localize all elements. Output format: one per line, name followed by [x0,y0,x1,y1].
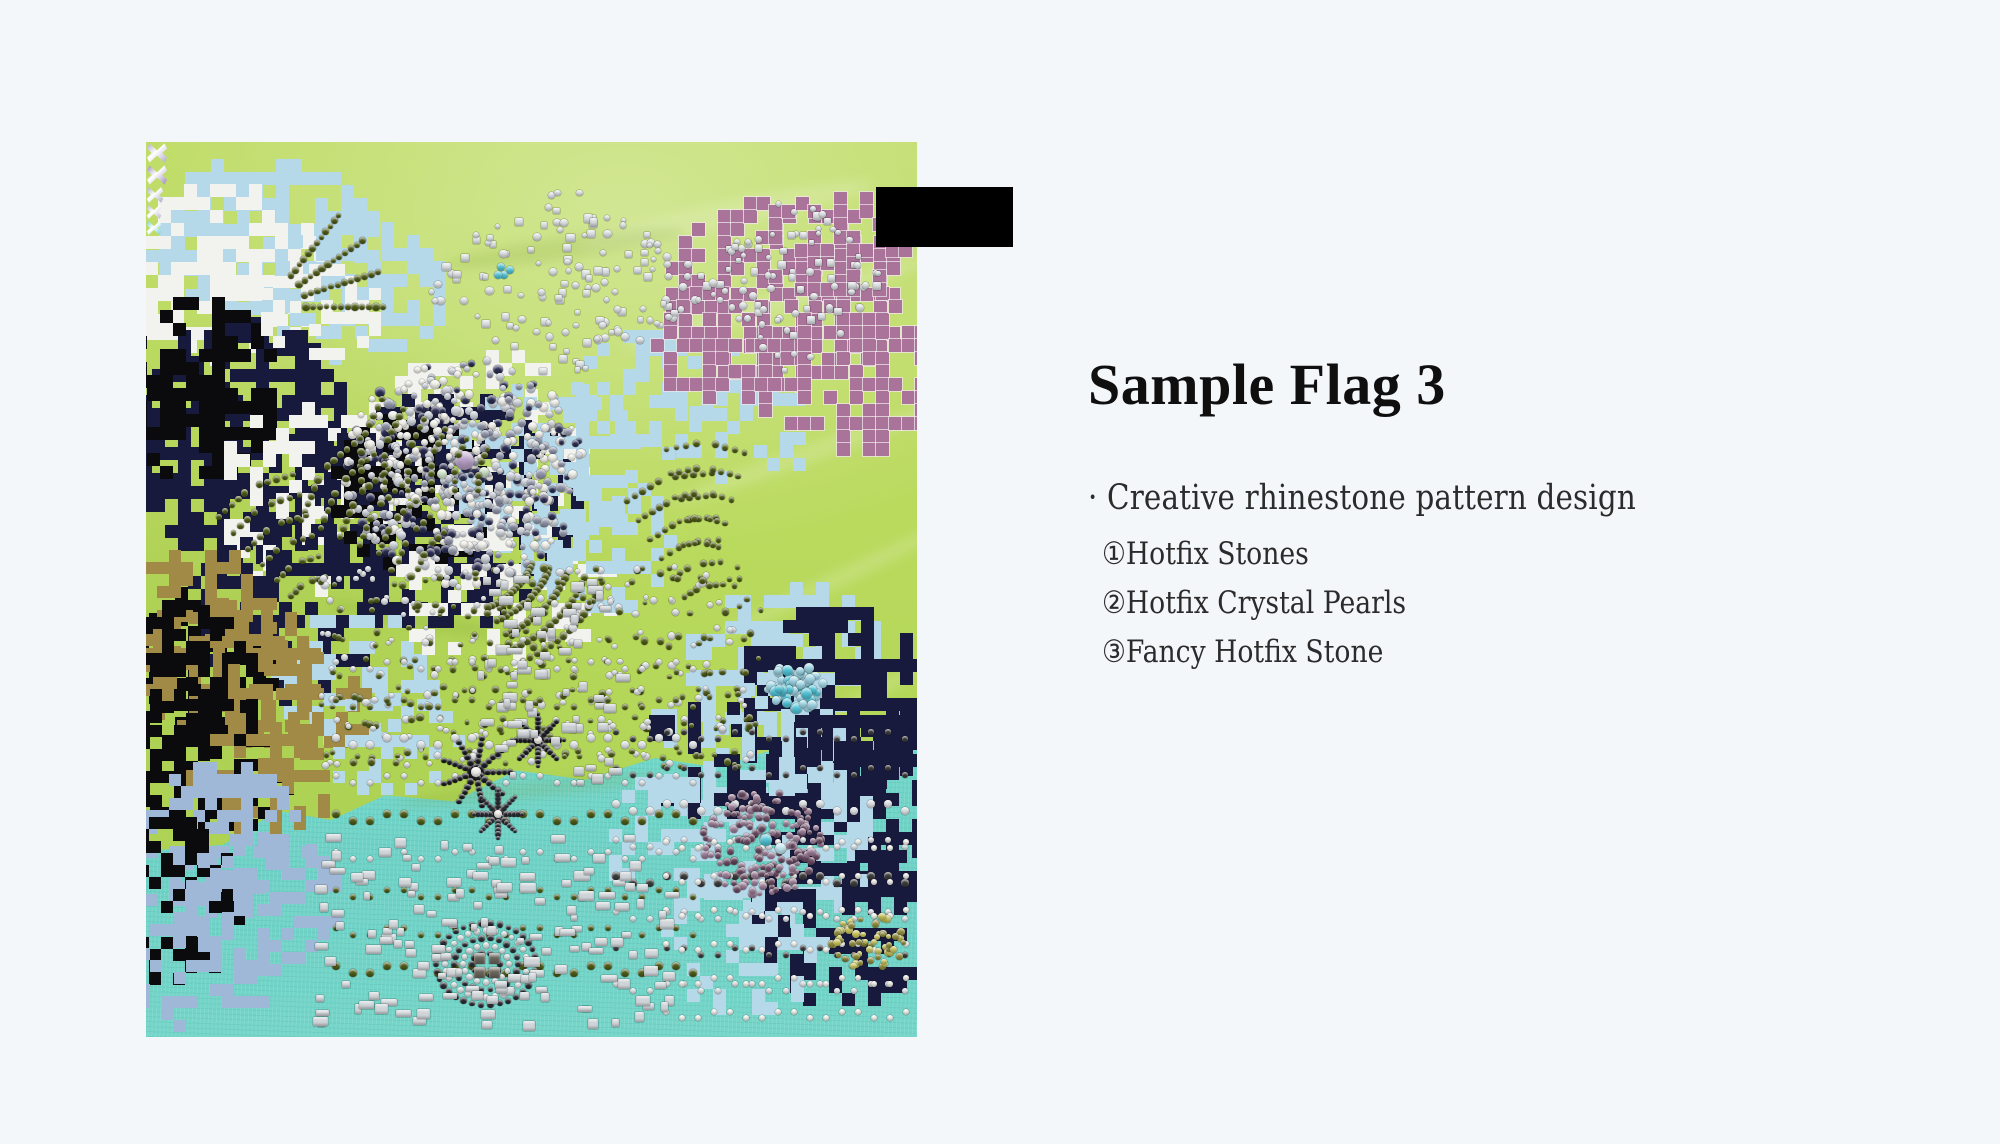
list-item: ②Hotfix Crystal Pearls [1102,585,1744,621]
redaction-block [876,187,1013,247]
product-photo [146,142,917,1037]
list-item: ①Hotfix Stones [1102,536,1744,572]
bullet-heading: · Creative rhinestone pattern design [1088,478,1726,518]
list-item: ③Fancy Hotfix Stone [1102,634,1744,670]
text-column: Sample Flag 3 · Creative rhinestone patt… [1088,355,1848,683]
slide-canvas: Sample Flag 3 · Creative rhinestone patt… [0,0,2000,1144]
rhinestone-clusters [146,142,917,1037]
page-title: Sample Flag 3 [1088,355,1848,416]
